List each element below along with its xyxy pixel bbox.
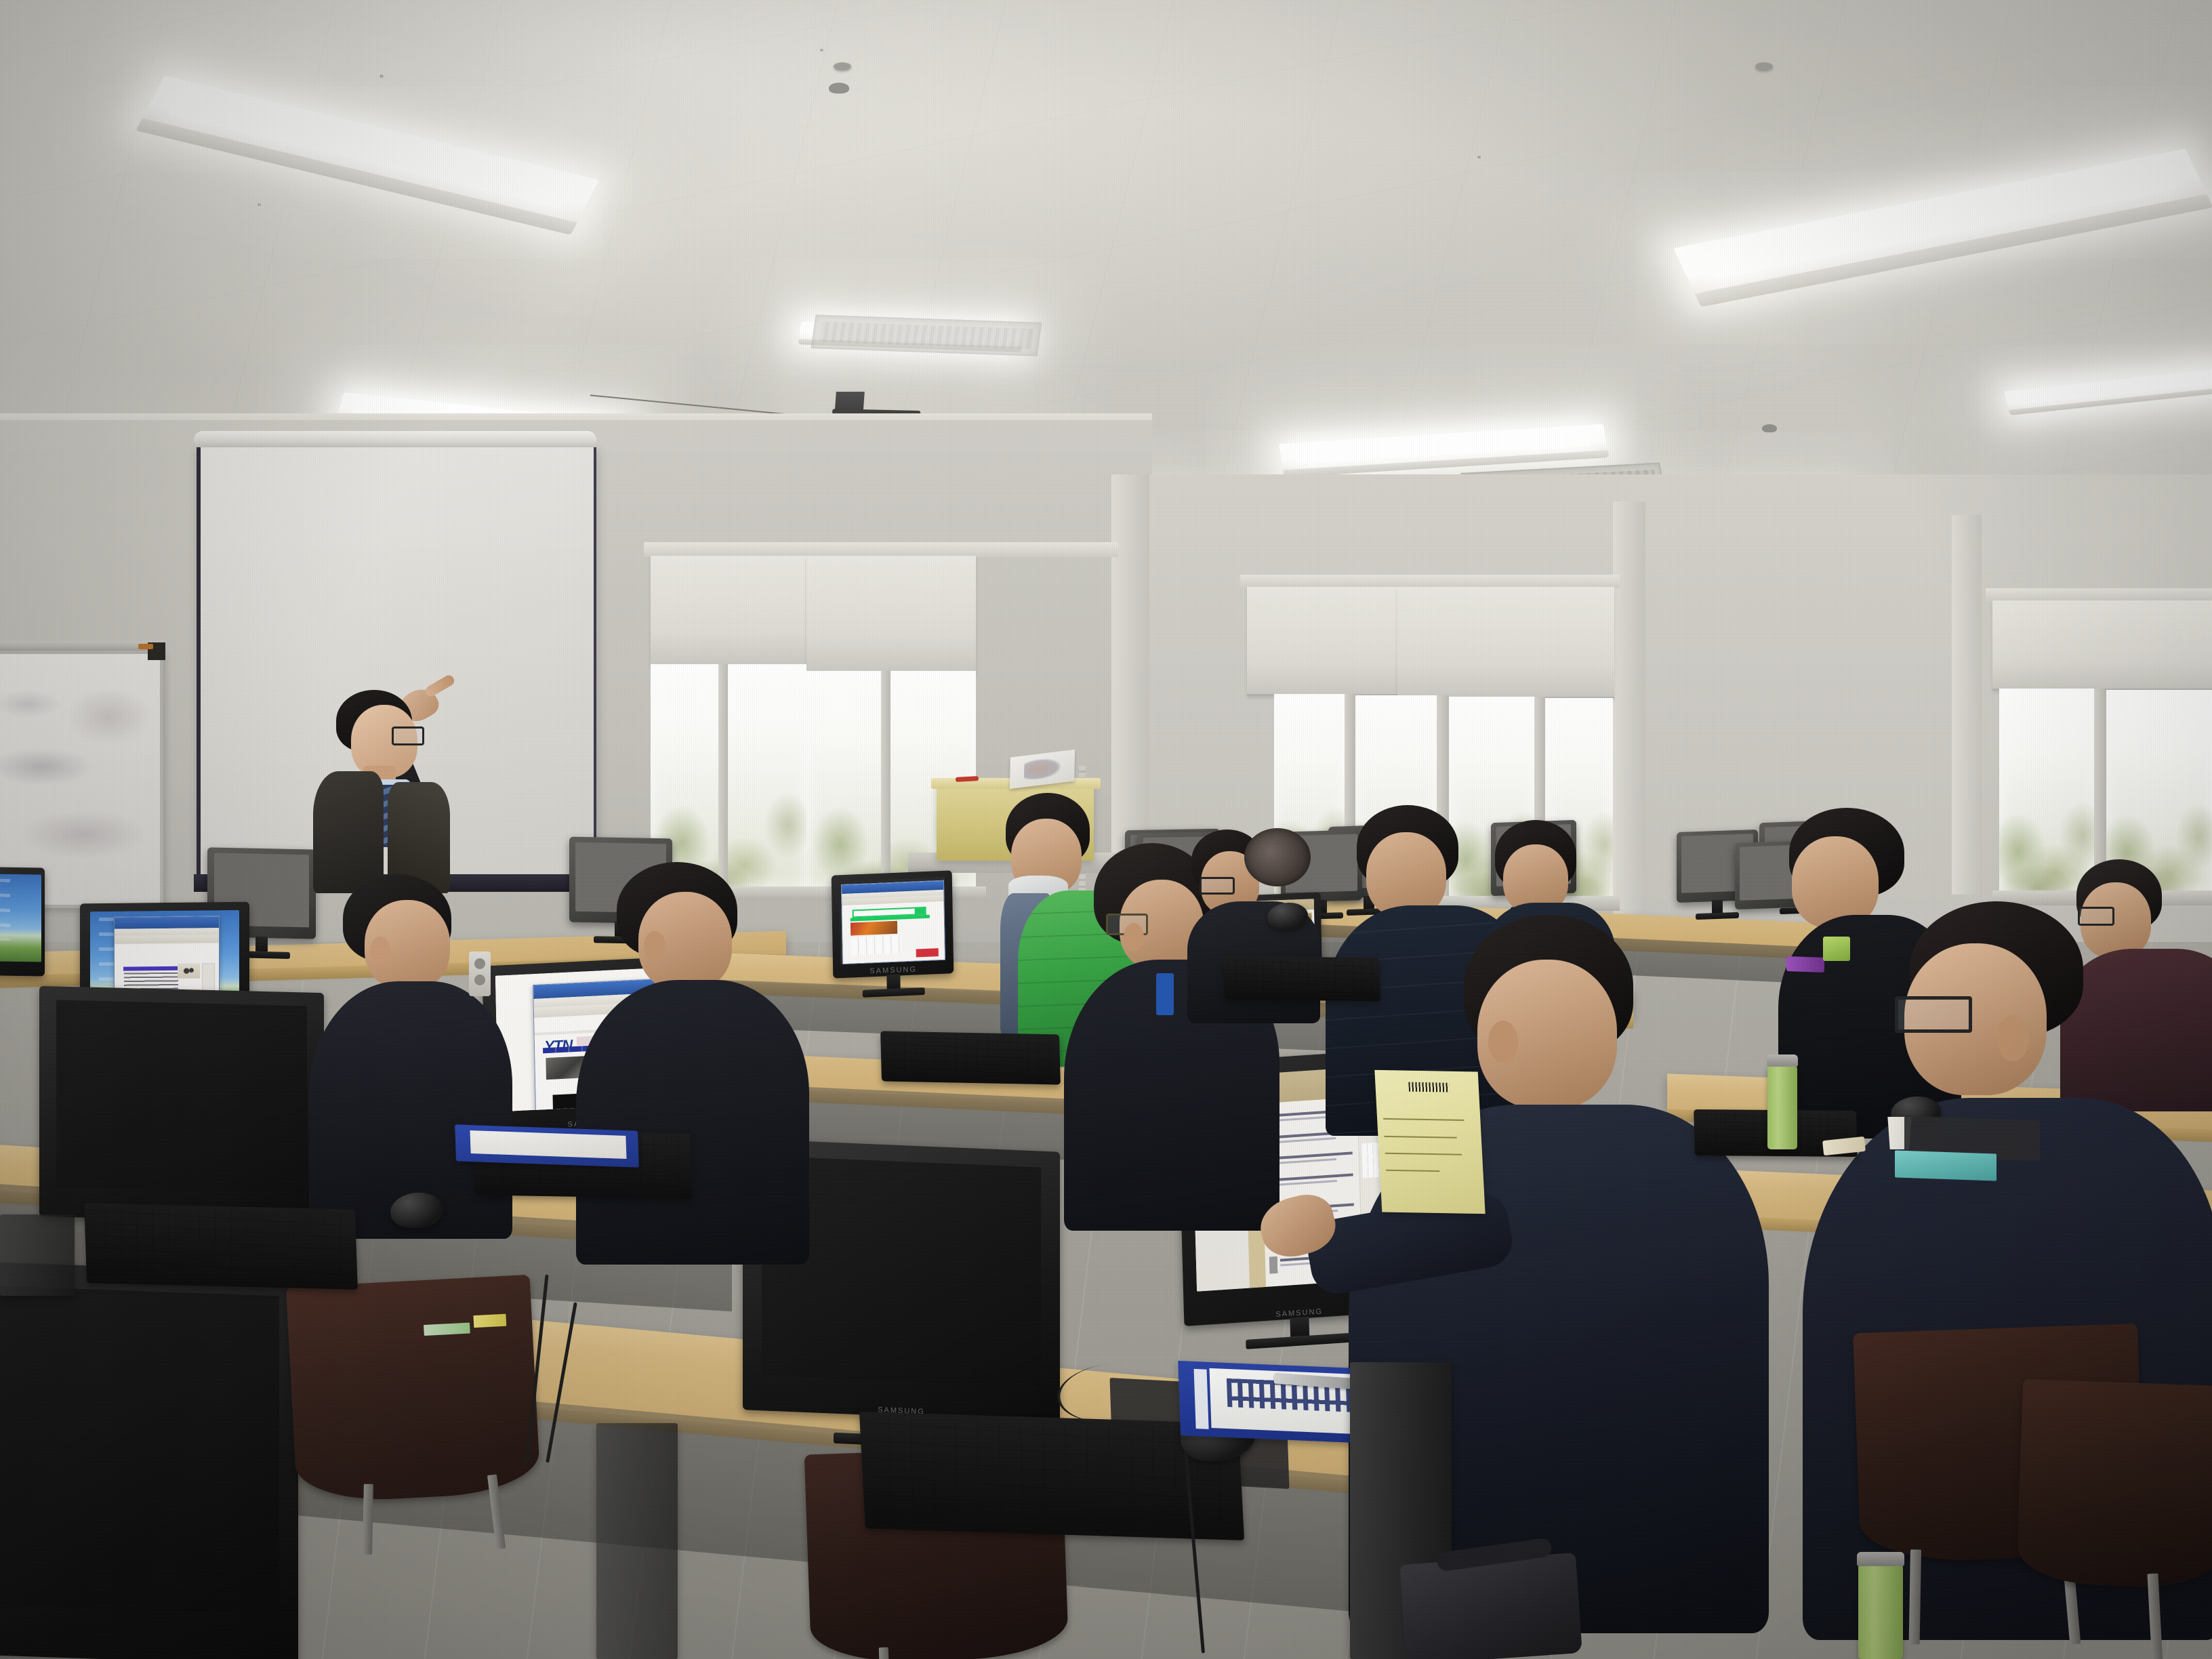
pc-tower-left: [0, 1214, 75, 1296]
instructor-glasses: [392, 726, 424, 745]
monitor-fg-left[interactable]: SAMSUNG: [39, 986, 324, 1223]
chair-far-right[interactable]: [2016, 1379, 2212, 1589]
attendee-glasses: [1200, 877, 1235, 895]
attendee-glasses: [1895, 996, 1972, 1033]
window-mullion: [881, 671, 890, 888]
instructor: [298, 671, 529, 888]
window-head: [1240, 575, 1620, 588]
chair-inventory-sticker: [473, 1314, 506, 1328]
roller-blind[interactable]: [1992, 600, 2212, 691]
attendee-ear: [1488, 1021, 1518, 1063]
chair-leg: [1909, 1549, 1921, 1644]
ceiling-speck: [1477, 156, 1481, 159]
monitor-front-left[interactable]: [0, 867, 45, 976]
roller-blind[interactable]: [806, 556, 976, 673]
chair-leg: [363, 1484, 373, 1555]
thermos-green[interactable]: [1767, 1065, 1797, 1149]
shoulder-bag[interactable]: [1399, 1553, 1582, 1659]
roller-blind[interactable]: [1247, 587, 1399, 696]
pc-tower-mid: [596, 1423, 678, 1659]
keyboard-row3[interactable]: [1223, 956, 1380, 1002]
whiteboard-marker[interactable]: [138, 644, 153, 649]
green-snack: [1823, 937, 1850, 961]
document-file-box[interactable]: [1374, 1070, 1485, 1214]
ceiling-speck: [380, 75, 384, 78]
chair-left[interactable]: [286, 1275, 541, 1504]
keyboard-row2[interactable]: [880, 1031, 1061, 1084]
keyboard-cover: [1227, 958, 1374, 994]
roller-blind[interactable]: [1397, 587, 1614, 699]
attendee-ear: [1124, 923, 1144, 951]
window-mullion: [718, 664, 728, 888]
wall-speaker-cone: [474, 975, 485, 985]
thermos-green-2[interactable]: [1858, 1564, 1903, 1659]
keyboard-cover: [867, 1416, 1228, 1521]
projection-screen-housing: [194, 431, 596, 449]
ceiling-speck: [258, 203, 261, 206]
attendee-ear: [1996, 1015, 2029, 1061]
classroom-photo: SAMSUNG YTN: [0, 0, 2212, 1659]
fur-hood-trim: [1244, 828, 1311, 886]
window-pane: [651, 664, 806, 888]
roller-blind[interactable]: [651, 556, 808, 666]
attendee-ear: [644, 931, 665, 961]
keyboard-cover: [884, 1033, 1053, 1076]
sprinkler-head: [1762, 424, 1777, 432]
sprinkler-head: [829, 83, 849, 94]
purple-item: [1786, 956, 1824, 972]
smoke-detector: [834, 62, 851, 70]
instructor-pointing-finger: [424, 674, 456, 699]
attendee-tie: [1156, 973, 1174, 1015]
monitor-naver[interactable]: SAMSUNG: [832, 870, 954, 978]
attendee-ear: [370, 937, 390, 964]
ceiling-speck: [820, 49, 823, 52]
wall-column: [1613, 501, 1645, 922]
smoke-detector: [1755, 62, 1773, 70]
window-head: [644, 542, 1118, 557]
keyboard-cover: [89, 1206, 346, 1277]
wall-speaker-cone: [474, 958, 485, 969]
attendee-torso: [576, 980, 809, 1265]
monitor-fg-bottomleft[interactable]: [0, 1262, 298, 1659]
keyboard-row1-left[interactable]: [84, 1203, 358, 1290]
notepad-teal[interactable]: [1895, 1150, 1996, 1181]
window-head: [1986, 588, 2212, 602]
